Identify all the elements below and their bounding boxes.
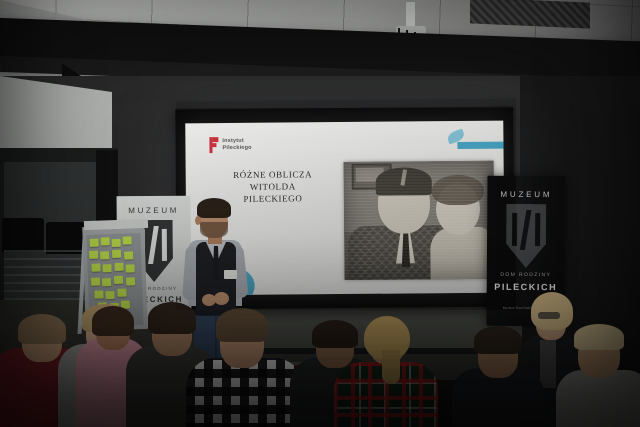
standing-woman-hair: [531, 292, 573, 330]
sticky-note: [112, 239, 121, 247]
audience-member-plaid-jacket: [334, 318, 438, 427]
dark-hoodie-3-hair: [474, 326, 522, 354]
sticky-note: [101, 237, 110, 245]
presenter-right-hand: [214, 292, 229, 305]
sticky-note: [125, 264, 134, 272]
sticky-note: [122, 236, 131, 244]
sticky-note: [100, 251, 109, 259]
audience-member-dark-hoodie-3: [452, 330, 544, 427]
plaid-jacket-ponytail: [382, 350, 400, 384]
sticky-note: [114, 276, 123, 284]
checkered-shirt-hair: [216, 308, 268, 342]
standing-woman-glasses-icon: [538, 312, 560, 319]
sticky-note: [102, 264, 111, 272]
sticky-note: [102, 278, 111, 286]
sticky-note: [114, 263, 123, 271]
sticky-note: [126, 277, 135, 285]
banner-right-sub-line2: PILECKICH: [487, 282, 565, 293]
sticky-note: [91, 263, 100, 271]
sticky-note: [105, 291, 114, 299]
sticky-note: [94, 290, 103, 298]
stacked-chair-1: [2, 218, 44, 252]
sticky-note: [117, 289, 126, 297]
light-hoodie-hair: [574, 324, 624, 350]
sticky-note: [91, 278, 100, 286]
light-hoodie-body: [556, 370, 640, 427]
sticky-note: [89, 251, 98, 259]
presenter-hair: [197, 198, 231, 218]
banner-right-shield-logo-icon: [506, 204, 546, 268]
banner-right-sub-line1: DOM RODZINY: [487, 272, 565, 279]
presenter-ear: [195, 216, 201, 225]
checkered-shirt-body: [186, 358, 304, 427]
audience-member-checkered-shirt: [186, 308, 304, 427]
sticky-note: [112, 250, 121, 258]
sticky-note: [90, 239, 99, 247]
presenter-name-badge: [224, 270, 237, 279]
lecture-room-photo: Instytut Pileckiego RÓŻNE OBLICZA WITOLD…: [0, 0, 640, 427]
sticky-note: [124, 251, 133, 259]
banner-right-museum-label: MUZEUM: [487, 190, 565, 200]
presenter-beard: [200, 222, 228, 238]
audience-member-light-hoodie: [556, 326, 640, 427]
